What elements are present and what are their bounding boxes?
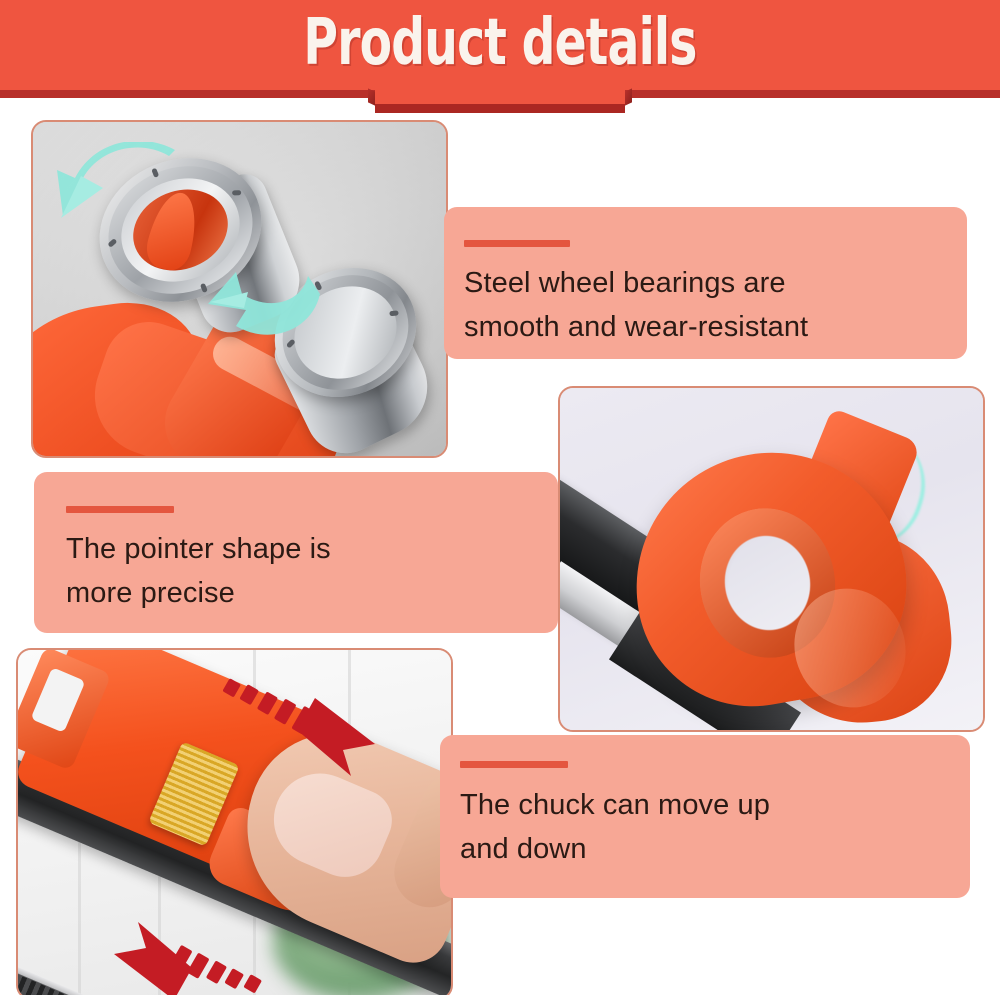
feature-text-bearing: Steel wheel bearings are smooth and wear… xyxy=(464,261,954,349)
feature-panel-bearing: Steel wheel bearings are smooth and wear… xyxy=(444,207,967,359)
feature-panel-pointer: The pointer shape is more precise xyxy=(34,472,558,633)
feature-text-chuck: The chuck can move up and down xyxy=(460,783,960,871)
bottom-margin xyxy=(0,995,1000,1000)
photo-chuck-movement xyxy=(16,648,453,1000)
feature-panel-chuck: The chuck can move up and down xyxy=(440,735,970,898)
feature-text-pointer: The pointer shape is more precise xyxy=(66,527,526,615)
header-tab-bevel-left xyxy=(368,88,375,105)
accent-line-bearing xyxy=(464,240,570,247)
photo-steel-wheel-bearings xyxy=(31,120,448,458)
page-title: Product details xyxy=(90,8,910,78)
header-tab-bevel-right xyxy=(625,88,632,105)
accent-line-chuck xyxy=(460,761,568,768)
pointer-head-assembly xyxy=(580,413,970,713)
rotation-arrow-cyan-right xyxy=(208,242,338,352)
accent-line-pointer xyxy=(66,506,174,513)
product-details-page: Product details xyxy=(0,0,1000,1000)
header-center-tab-shadow xyxy=(375,104,625,113)
rotation-arrow-cyan-left xyxy=(51,142,181,252)
direction-arrow-up-left xyxy=(78,896,263,998)
photo-pointer-shape xyxy=(558,386,985,732)
direction-arrow-down-right xyxy=(223,658,408,778)
